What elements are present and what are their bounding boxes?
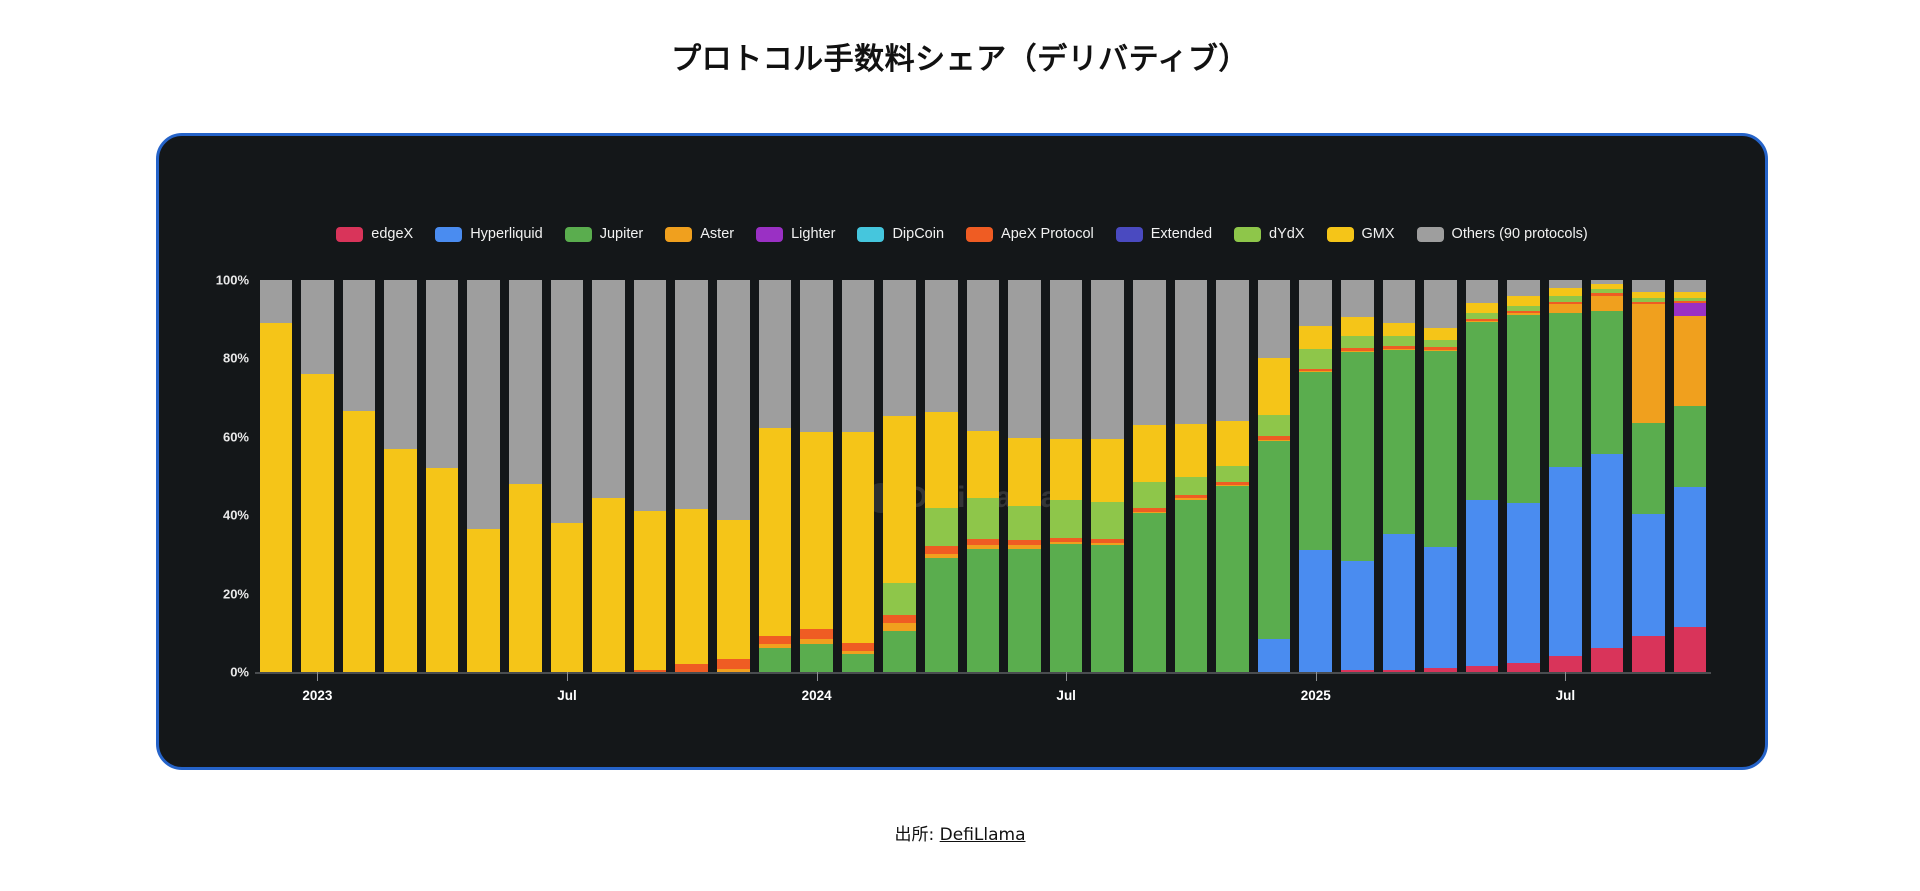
- stacked-bar[interactable]: [717, 280, 750, 672]
- bar-segment: [1507, 296, 1540, 306]
- x-axis-tick-mark: [1565, 672, 1566, 681]
- bar-segment: [800, 644, 833, 672]
- y-axis-tick-label: 20%: [187, 586, 249, 601]
- bar-segment: [343, 411, 376, 672]
- stacked-bar[interactable]: [301, 280, 334, 672]
- bar-segment: [1008, 549, 1041, 672]
- bar-segment: [1549, 288, 1582, 296]
- bar-segment: [717, 520, 750, 659]
- bar-segment: [1466, 280, 1499, 303]
- chart-card: edgeXHyperliquidJupiterAsterLighterDipCo…: [156, 133, 1768, 770]
- bar-segment: [1175, 477, 1208, 495]
- bar-segment: [800, 432, 833, 629]
- bar-segment: [1299, 326, 1332, 350]
- bar-segment: [1175, 280, 1208, 424]
- bar-segment: [883, 416, 916, 583]
- bar-segment: [1591, 648, 1624, 672]
- bar-segment: [1175, 500, 1208, 672]
- bar-segment: [1549, 304, 1582, 313]
- bar-segment: [883, 623, 916, 631]
- bar-segment: [301, 280, 334, 374]
- bar-segment: [1091, 502, 1124, 539]
- bar-segment: [1258, 280, 1291, 358]
- bar-segment: [1133, 482, 1166, 507]
- bar-segment: [634, 511, 667, 670]
- y-axis-tick-label: 80%: [187, 351, 249, 366]
- bar-segment: [1466, 322, 1499, 500]
- bar-segment: [509, 280, 542, 484]
- bar-segment: [1591, 454, 1624, 648]
- bar-segment: [1507, 280, 1540, 296]
- stacked-bar[interactable]: [1050, 280, 1083, 672]
- x-axis-tick-label: 2025: [1301, 688, 1331, 703]
- bar-segment: [1008, 280, 1041, 438]
- x-axis: 2023Jul2024Jul2025Jul: [255, 672, 1711, 732]
- bar-segment: [842, 654, 875, 672]
- source-footer: 出所: DefiLlama: [0, 820, 1920, 845]
- source-prefix: 出所:: [895, 825, 940, 845]
- plot-area: [255, 280, 1711, 672]
- stacked-bar[interactable]: [925, 280, 958, 672]
- source-link[interactable]: DefiLlama: [940, 825, 1026, 845]
- bar-series-container: [255, 280, 1711, 672]
- x-axis-tick-label: Jul: [557, 688, 577, 703]
- bar-segment: [1258, 639, 1291, 672]
- bar-segment: [1299, 280, 1332, 325]
- bar-segment: [1632, 423, 1665, 514]
- bar-segment: [717, 659, 750, 669]
- bar-segment: [1383, 336, 1416, 346]
- stacked-bar[interactable]: [343, 280, 376, 672]
- bar-segment: [1424, 547, 1457, 668]
- stacked-bar[interactable]: [1175, 280, 1208, 672]
- bar-segment: [842, 280, 875, 432]
- x-axis-tick-label: 2023: [302, 688, 332, 703]
- bar-segment: [1299, 372, 1332, 550]
- stacked-bar[interactable]: [883, 280, 916, 672]
- x-axis-tick-mark: [1316, 672, 1317, 681]
- bar-segment: [634, 280, 667, 511]
- plot-wrapper: DefiLlama 0%20%40%60%80%100% 2023Jul2024…: [159, 136, 1765, 767]
- stacked-bar[interactable]: [1424, 280, 1457, 672]
- stacked-bar[interactable]: [1091, 280, 1124, 672]
- stacked-bar[interactable]: [842, 280, 875, 672]
- bar-segment: [967, 280, 1000, 430]
- bar-segment: [260, 280, 293, 323]
- stacked-bar[interactable]: [551, 280, 584, 672]
- bar-segment: [1674, 627, 1707, 672]
- bar-segment: [925, 508, 958, 546]
- bar-segment: [1341, 336, 1374, 348]
- bar-segment: [1133, 280, 1166, 425]
- bar-segment: [1133, 425, 1166, 482]
- bar-segment: [1299, 550, 1332, 672]
- bar-segment: [675, 280, 708, 509]
- bar-segment: [343, 280, 376, 411]
- stacked-bar[interactable]: [1507, 280, 1540, 672]
- stacked-bar[interactable]: [426, 280, 459, 672]
- bar-segment: [1632, 304, 1665, 424]
- bar-segment: [842, 643, 875, 651]
- page-title: プロトコル手数料シェア（デリバティブ）: [0, 34, 1920, 78]
- stacked-bar[interactable]: [1299, 280, 1332, 672]
- y-axis: 0%20%40%60%80%100%: [187, 136, 249, 767]
- bar-segment: [1008, 438, 1041, 507]
- bar-segment: [1549, 313, 1582, 467]
- stacked-bar[interactable]: [800, 280, 833, 672]
- bar-segment: [925, 546, 958, 554]
- bar-segment: [1591, 296, 1624, 312]
- bar-segment: [1632, 280, 1665, 292]
- stacked-bar[interactable]: [509, 280, 542, 672]
- bar-segment: [1674, 316, 1707, 406]
- bar-segment: [717, 280, 750, 520]
- bar-segment: [883, 583, 916, 615]
- bar-segment: [759, 636, 792, 644]
- y-axis-tick-label: 0%: [187, 665, 249, 680]
- bar-segment: [1674, 406, 1707, 488]
- bar-segment: [883, 631, 916, 672]
- stacked-bar[interactable]: [967, 280, 1000, 672]
- bar-segment: [467, 280, 500, 529]
- bar-segment: [1175, 424, 1208, 477]
- stacked-bar[interactable]: [759, 280, 792, 672]
- bar-segment: [1216, 280, 1249, 421]
- bar-segment: [509, 484, 542, 672]
- bar-segment: [1091, 439, 1124, 502]
- bar-segment: [260, 323, 293, 672]
- bar-segment: [967, 549, 1000, 672]
- stacked-bar[interactable]: [592, 280, 625, 672]
- bar-segment: [301, 374, 334, 672]
- bar-segment: [1050, 439, 1083, 500]
- x-axis-tick-mark: [1066, 672, 1067, 681]
- bar-segment: [551, 280, 584, 523]
- bar-segment: [1424, 280, 1457, 328]
- y-axis-tick-label: 60%: [187, 429, 249, 444]
- bar-segment: [925, 280, 958, 412]
- bar-segment: [1050, 544, 1083, 672]
- stacked-bar[interactable]: [1632, 280, 1665, 672]
- stacked-bar[interactable]: [675, 280, 708, 672]
- bar-segment: [1091, 545, 1124, 672]
- bar-segment: [1674, 303, 1707, 316]
- x-axis-tick-mark: [317, 672, 318, 681]
- x-axis-tick-label: Jul: [1556, 688, 1576, 703]
- bar-segment: [1008, 506, 1041, 539]
- bar-segment: [759, 428, 792, 636]
- bar-segment: [1466, 500, 1499, 665]
- bar-segment: [883, 280, 916, 416]
- bar-segment: [1383, 280, 1416, 323]
- bar-segment: [759, 280, 792, 428]
- y-axis-tick-label: 100%: [187, 273, 249, 288]
- bar-segment: [1549, 280, 1582, 288]
- bar-segment: [675, 664, 708, 672]
- bar-segment: [384, 449, 417, 672]
- bar-segment: [1050, 500, 1083, 537]
- bar-segment: [426, 468, 459, 672]
- x-axis-tick-label: 2024: [802, 688, 832, 703]
- stacked-bar[interactable]: [1383, 280, 1416, 672]
- stacked-bar[interactable]: [1341, 280, 1374, 672]
- bar-segment: [1632, 636, 1665, 672]
- x-axis-tick-mark: [567, 672, 568, 681]
- bar-segment: [967, 498, 1000, 540]
- bar-segment: [925, 558, 958, 672]
- bar-segment: [1632, 514, 1665, 635]
- stacked-bar[interactable]: [1549, 280, 1582, 672]
- bar-segment: [675, 509, 708, 664]
- bar-segment: [384, 280, 417, 449]
- y-axis-tick-label: 40%: [187, 508, 249, 523]
- stacked-bar[interactable]: [1591, 280, 1624, 672]
- bar-segment: [467, 529, 500, 672]
- bar-segment: [1091, 280, 1124, 439]
- stacked-bar[interactable]: [260, 280, 293, 672]
- bar-segment: [1216, 466, 1249, 482]
- bar-segment: [1341, 280, 1374, 317]
- stacked-bar[interactable]: [1466, 280, 1499, 672]
- bar-segment: [1549, 656, 1582, 672]
- bar-segment: [967, 431, 1000, 498]
- bar-segment: [883, 615, 916, 623]
- stacked-bar[interactable]: [1216, 280, 1249, 672]
- bar-segment: [1591, 311, 1624, 454]
- bar-segment: [1466, 303, 1499, 313]
- bar-segment: [1258, 441, 1291, 639]
- bar-segment: [800, 280, 833, 432]
- x-axis-tick-label: Jul: [1056, 688, 1076, 703]
- bar-segment: [1216, 421, 1249, 466]
- stacked-bar[interactable]: [1674, 280, 1707, 672]
- bar-segment: [1383, 323, 1416, 337]
- page-root: プロトコル手数料シェア（デリバティブ） edgeXHyperliquidJupi…: [0, 0, 1920, 891]
- bar-segment: [1133, 513, 1166, 672]
- bar-segment: [1549, 467, 1582, 656]
- bar-segment: [1674, 280, 1707, 292]
- bar-segment: [551, 523, 584, 672]
- bar-segment: [1383, 534, 1416, 670]
- stacked-bar[interactable]: [634, 280, 667, 672]
- bar-segment: [1507, 503, 1540, 663]
- bar-segment: [1341, 317, 1374, 337]
- bar-segment: [1424, 340, 1457, 348]
- bar-segment: [1383, 350, 1416, 534]
- bar-segment: [592, 498, 625, 672]
- stacked-bar[interactable]: [467, 280, 500, 672]
- bar-segment: [1216, 486, 1249, 672]
- bar-segment: [800, 629, 833, 639]
- bar-segment: [1507, 663, 1540, 672]
- bar-segment: [759, 648, 792, 672]
- bar-segment: [592, 280, 625, 498]
- bar-segment: [1507, 315, 1540, 503]
- bar-segment: [1299, 349, 1332, 369]
- bar-segment: [1258, 415, 1291, 437]
- stacked-bar[interactable]: [1258, 280, 1291, 672]
- bar-segment: [1341, 561, 1374, 670]
- bar-segment: [426, 280, 459, 468]
- stacked-bar[interactable]: [1133, 280, 1166, 672]
- x-axis-tick-mark: [817, 672, 818, 681]
- bar-segment: [925, 412, 958, 508]
- stacked-bar[interactable]: [1008, 280, 1041, 672]
- bar-segment: [1258, 358, 1291, 415]
- bar-segment: [1424, 328, 1457, 340]
- bar-segment: [1424, 351, 1457, 547]
- bar-segment: [1341, 352, 1374, 562]
- bar-segment: [842, 432, 875, 644]
- bar-segment: [1050, 280, 1083, 439]
- bar-segment: [1674, 487, 1707, 627]
- stacked-bar[interactable]: [384, 280, 417, 672]
